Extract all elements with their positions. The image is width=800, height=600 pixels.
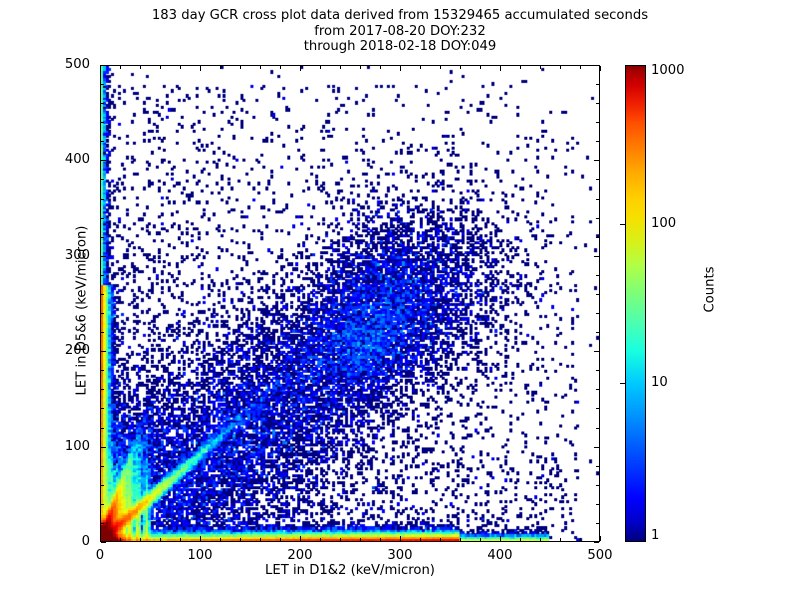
y-tick-minor xyxy=(101,485,104,486)
colorbar-tick-label: 100 xyxy=(651,216,676,231)
colorbar-label: Counts xyxy=(703,190,718,390)
y-tick-minor xyxy=(101,389,104,390)
y-tick-minor xyxy=(101,408,104,409)
x-tick-minor-top xyxy=(120,66,121,69)
y-tick-minor-right xyxy=(596,428,599,429)
figure-canvas: 183 day GCR cross plot data derived from… xyxy=(0,0,800,600)
y-tick-minor-right xyxy=(596,370,599,371)
colorbar-tick-label: 1 xyxy=(651,528,659,543)
x-tick-minor-top xyxy=(520,66,521,69)
x-tick-major-top xyxy=(600,66,601,71)
x-tick-minor xyxy=(540,538,541,541)
x-tick-minor-top xyxy=(180,66,181,69)
y-tick-minor-right xyxy=(596,294,599,295)
x-tick-minor xyxy=(240,538,241,541)
y-tick-major xyxy=(101,65,106,66)
title-line-1: 183 day GCR cross plot data derived from… xyxy=(0,8,800,24)
y-tick-minor-right xyxy=(596,313,599,314)
y-tick-major xyxy=(101,351,106,352)
plot-title: 183 day GCR cross plot data derived from… xyxy=(0,8,800,55)
y-tick-minor xyxy=(101,294,104,295)
x-tick-minor xyxy=(340,538,341,541)
x-tick-minor xyxy=(220,538,221,541)
y-tick-minor-right xyxy=(596,275,599,276)
y-tick-major-right xyxy=(594,542,599,543)
y-tick-minor xyxy=(101,370,104,371)
x-tick-major xyxy=(300,536,301,541)
x-tick-major xyxy=(500,536,501,541)
x-tick-minor-top xyxy=(280,66,281,69)
x-tick-minor xyxy=(420,538,421,541)
y-tick-minor xyxy=(101,428,104,429)
x-tick-minor xyxy=(480,538,481,541)
x-tick-minor-top xyxy=(420,66,421,69)
y-tick-minor xyxy=(101,199,104,200)
x-tick-label: 400 xyxy=(470,548,530,563)
x-tick-major-top xyxy=(200,66,201,71)
y-tick-minor xyxy=(101,313,104,314)
x-tick-minor-top xyxy=(260,66,261,69)
colorbar-gradient xyxy=(625,65,646,542)
y-tick-major xyxy=(101,160,106,161)
x-tick-minor xyxy=(280,538,281,541)
y-tick-minor-right xyxy=(596,389,599,390)
density-heatmap xyxy=(101,66,599,541)
x-tick-minor-top xyxy=(540,66,541,69)
y-tick-minor-right xyxy=(596,504,599,505)
x-tick-minor-top xyxy=(360,66,361,69)
y-tick-major-right xyxy=(594,65,599,66)
y-tick-minor xyxy=(101,103,104,104)
y-tick-minor-right xyxy=(596,218,599,219)
colorbar-tick xyxy=(620,224,625,225)
x-tick-minor-top xyxy=(320,66,321,69)
y-tick-minor xyxy=(101,237,104,238)
y-tick-major-right xyxy=(594,256,599,257)
y-tick-minor xyxy=(101,179,104,180)
x-tick-major-top xyxy=(100,66,101,71)
x-tick-major-top xyxy=(500,66,501,71)
x-tick-minor-top xyxy=(560,66,561,69)
y-tick-minor-right xyxy=(596,84,599,85)
y-tick-minor-right xyxy=(596,485,599,486)
x-tick-minor-top xyxy=(340,66,341,69)
x-tick-minor xyxy=(520,538,521,541)
y-tick-minor xyxy=(101,466,104,467)
x-tick-major xyxy=(200,536,201,541)
colorbar-tick xyxy=(620,383,625,384)
y-tick-major xyxy=(101,542,106,543)
y-tick-minor-right xyxy=(596,103,599,104)
y-tick-minor-right xyxy=(596,122,599,123)
y-tick-minor xyxy=(101,84,104,85)
x-tick-minor-top xyxy=(380,66,381,69)
x-tick-minor-top xyxy=(460,66,461,69)
x-tick-minor xyxy=(140,538,141,541)
x-tick-label: 300 xyxy=(370,548,430,563)
x-tick-minor xyxy=(580,538,581,541)
x-axis-label: LET in D1&2 (keV/micron) xyxy=(100,563,600,578)
x-tick-label: 500 xyxy=(570,548,630,563)
x-tick-minor xyxy=(160,538,161,541)
colorbar-tick-label: 1000 xyxy=(651,63,685,78)
x-tick-label: 0 xyxy=(70,548,130,563)
colorbar-tick-label: 10 xyxy=(651,375,668,390)
y-tick-minor xyxy=(101,275,104,276)
x-tick-minor xyxy=(560,538,561,541)
y-tick-minor-right xyxy=(596,179,599,180)
x-tick-major xyxy=(100,536,101,541)
y-tick-major-right xyxy=(594,160,599,161)
y-tick-minor-right xyxy=(596,466,599,467)
x-tick-minor-top xyxy=(580,66,581,69)
x-tick-minor xyxy=(320,538,321,541)
y-tick-minor-right xyxy=(596,332,599,333)
plot-axes xyxy=(100,65,600,542)
x-tick-minor xyxy=(440,538,441,541)
x-tick-minor xyxy=(360,538,361,541)
x-tick-minor xyxy=(460,538,461,541)
y-tick-label: 500 xyxy=(30,57,90,72)
x-tick-minor-top xyxy=(160,66,161,69)
x-tick-minor xyxy=(260,538,261,541)
y-tick-minor-right xyxy=(596,408,599,409)
x-tick-minor-top xyxy=(140,66,141,69)
y-tick-minor xyxy=(101,122,104,123)
y-tick-minor xyxy=(101,523,104,524)
x-tick-minor-top xyxy=(240,66,241,69)
y-tick-minor-right xyxy=(596,199,599,200)
y-tick-minor xyxy=(101,332,104,333)
x-tick-major xyxy=(400,536,401,541)
y-tick-major xyxy=(101,447,106,448)
y-tick-minor-right xyxy=(596,141,599,142)
x-tick-major-top xyxy=(300,66,301,71)
y-tick-major-right xyxy=(594,447,599,448)
y-tick-label: 0 xyxy=(30,534,90,549)
x-tick-minor-top xyxy=(220,66,221,69)
x-tick-label: 100 xyxy=(170,548,230,563)
x-tick-minor xyxy=(380,538,381,541)
y-tick-minor xyxy=(101,504,104,505)
x-tick-minor-top xyxy=(480,66,481,69)
title-line-2: from 2017-08-20 DOY:232 xyxy=(0,24,800,40)
x-tick-major-top xyxy=(400,66,401,71)
x-tick-minor xyxy=(180,538,181,541)
x-tick-minor xyxy=(120,538,121,541)
x-tick-minor-top xyxy=(440,66,441,69)
colorbar: 1101001000 xyxy=(625,65,646,542)
x-tick-major xyxy=(600,536,601,541)
y-tick-major xyxy=(101,256,106,257)
x-tick-label: 200 xyxy=(270,548,330,563)
y-tick-minor xyxy=(101,218,104,219)
y-tick-minor xyxy=(101,141,104,142)
y-tick-minor-right xyxy=(596,237,599,238)
y-tick-minor-right xyxy=(596,523,599,524)
y-axis-label: LET in D5&6 (keV/micron) xyxy=(75,166,90,456)
y-tick-major-right xyxy=(594,351,599,352)
title-line-3: through 2018-02-18 DOY:049 xyxy=(0,39,800,55)
